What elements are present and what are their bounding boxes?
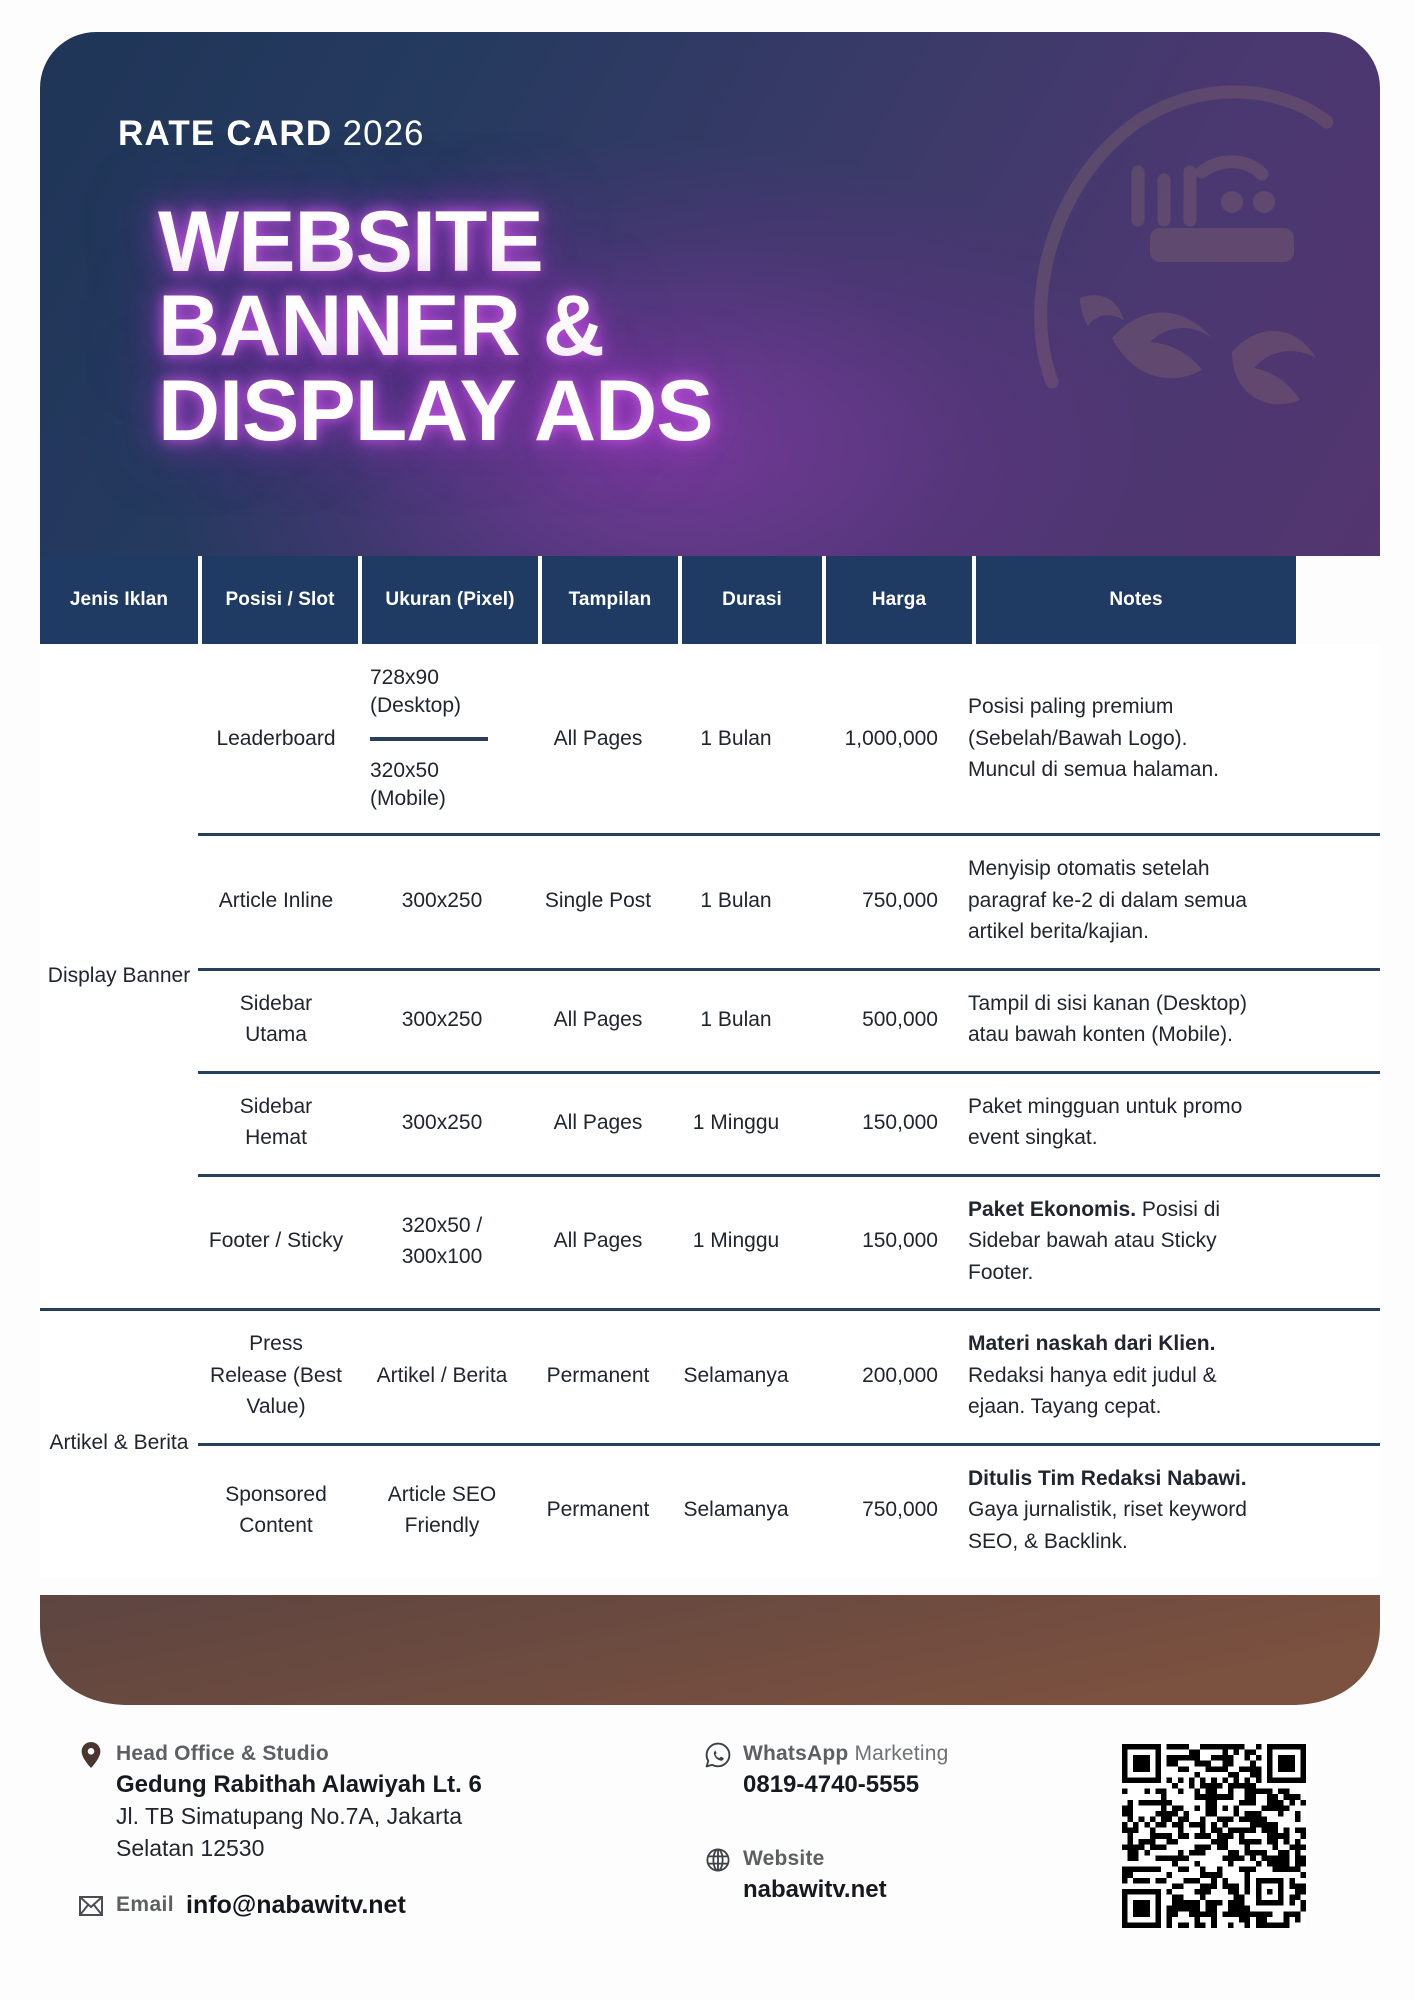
table-row: Sidebar Hemat300x250All Pages1 Minggu150… [198,1071,1380,1174]
cell-posisi-slot: Press Release (Best Value) [198,1328,354,1423]
eyebrow-light: 2026 [343,114,425,153]
notes-highlight: Paket Ekonomis. [968,1198,1136,1221]
rate-table: Jenis Iklan Posisi / Slot Ukuran (Pixel)… [40,556,1380,1577]
email-label: Email [116,1893,174,1917]
cell-tampilan: All Pages [530,1004,666,1036]
table-group: Artikel & BeritaPress Release (Best Valu… [40,1308,1380,1577]
column-header-durasi: Durasi [682,556,822,644]
cell-durasi: 1 Bulan [666,723,806,755]
office-label: Head Office & Studio [116,1740,329,1767]
footer-qr-block [1122,1744,1322,1928]
hero-banner: RATE CARD 2026 WEBSITE BANNER & DISPLAY … [40,32,1380,556]
whatsapp-number[interactable]: 0819-4740-5555 [743,1768,1065,1801]
rate-card-page: RATE CARD 2026 WEBSITE BANNER & DISPLAY … [0,0,1414,2000]
cell-ukuran-pixel: 300x250 [354,885,530,917]
cell-notes: Ditulis Tim Redaksi Nabawi. Gaya jurnali… [952,1463,1272,1558]
cell-tampilan: All Pages [530,723,666,755]
whatsapp-label-strong: WhatsApp [743,1742,848,1765]
cell-notes: Paket mingguan untuk promo event singkat… [952,1091,1272,1154]
column-header-posisi-slot: Posisi / Slot [202,556,358,644]
cell-harga: 200,000 [806,1360,952,1392]
footer-office-block: Head Office & Studio Gedung Rabithah Ala… [78,1740,598,1920]
cell-harga: 1,000,000 [806,723,952,755]
arabic-calligraphy-watermark [902,52,1362,482]
office-name: Gedung Rabithah Alawiyah Lt. 6 [116,1768,598,1801]
cell-tampilan: All Pages [530,1225,666,1257]
cell-harga: 150,000 [806,1107,952,1139]
table-group: Display BannerLeaderboard728x90 (Desktop… [40,644,1380,1308]
notes-text: Redaksi hanya edit judul & ejaan. Tayang… [968,1364,1217,1419]
cell-tampilan: Permanent [530,1360,666,1392]
table-row: Leaderboard728x90 (Desktop)320x50 (Mobil… [198,644,1380,833]
column-header-harga: Harga [826,556,972,644]
eyebrow-strong: RATE CARD [118,114,332,153]
whatsapp-label-row: WhatsApp Marketing [705,1740,1065,1768]
website-label: Website [743,1845,825,1872]
cell-posisi-slot: Footer / Sticky [198,1225,354,1257]
notes-highlight: Ditulis Tim Redaksi Nabawi. [968,1467,1247,1490]
email-row[interactable]: Email info@nabawitv.net [78,1891,598,1920]
website-label-row: Website [705,1845,1065,1873]
cell-posisi-slot: Sidebar Hemat [198,1091,354,1154]
cell-harga: 750,000 [806,885,952,917]
table-row: Press Release (Best Value)Artikel / Beri… [198,1308,1380,1443]
cell-notes: Menyisip otomatis setelah paragraf ke-2 … [952,853,1272,948]
size-divider [370,737,488,741]
notes-text: Posisi paling premium (Sebelah/Bawah Log… [968,695,1219,781]
table-row: Footer / Sticky320x50 / 300x100All Pages… [198,1174,1380,1309]
column-header-tampilan: Tampilan [542,556,678,644]
cell-notes: Tampil di sisi kanan (Desktop) atau bawa… [952,988,1272,1051]
cell-ukuran-pixel: Artikel / Berita [354,1360,530,1392]
group-label: Artikel & Berita [40,1308,198,1577]
group-rows: Press Release (Best Value)Artikel / Beri… [198,1308,1380,1577]
cell-posisi-slot: Sponsored Content [198,1479,354,1542]
group-rows: Leaderboard728x90 (Desktop)320x50 (Mobil… [198,644,1380,1308]
globe-icon [705,1847,731,1873]
cell-durasi: Selamanya [666,1494,806,1526]
cell-durasi: 1 Minggu [666,1225,806,1257]
office-address-line-1: Jl. TB Simatupang No.7A, Jakarta [116,1801,598,1833]
notes-text: Menyisip otomatis setelah paragraf ke-2 … [968,857,1247,943]
cell-durasi: 1 Bulan [666,1004,806,1036]
title-line-3: DISPLAY ADS [158,369,713,453]
cell-durasi: Selamanya [666,1360,806,1392]
location-pin-icon [78,1742,104,1768]
cell-tampilan: Permanent [530,1494,666,1526]
cell-tampilan: All Pages [530,1107,666,1139]
table-row: Sidebar Utama300x250All Pages1 Bulan500,… [198,968,1380,1071]
size-desktop: 728x90 (Desktop) [370,664,520,721]
cell-tampilan: Single Post [530,885,666,917]
footer-contact-block: WhatsApp Marketing 0819-4740-5555 Websit… [705,1740,1065,1906]
cell-notes: Posisi paling premium (Sebelah/Bawah Log… [952,691,1272,786]
cell-posisi-slot: Sidebar Utama [198,988,354,1051]
email-value[interactable]: info@nabawitv.net [186,1891,406,1920]
cell-ukuran-pixel: 300x250 [354,1107,530,1139]
notes-highlight: Materi naskah dari Klien. [968,1332,1215,1355]
notes-text: Gaya jurnalistik, riset keyword SEO, & B… [968,1498,1247,1553]
cell-harga: 150,000 [806,1225,952,1257]
cell-ukuran-pixel: 728x90 (Desktop)320x50 (Mobile) [354,664,530,813]
office-label-row: Head Office & Studio [78,1740,598,1768]
column-header-jenis-iklan: Jenis Iklan [40,556,198,644]
notes-text: Paket mingguan untuk promo event singkat… [968,1095,1242,1150]
cell-posisi-slot: Article Inline [198,885,354,917]
website-value[interactable]: nabawitv.net [743,1873,1065,1906]
cell-notes: Materi naskah dari Klien. Redaksi hanya … [952,1328,1272,1423]
office-address-line-2: Selatan 12530 [116,1833,598,1865]
column-header-notes: Notes [976,556,1296,644]
cell-durasi: 1 Bulan [666,885,806,917]
cell-notes: Paket Ekonomis. Posisi di Sidebar bawah … [952,1194,1272,1289]
cell-harga: 500,000 [806,1004,952,1036]
table-body: Display BannerLeaderboard728x90 (Desktop… [40,644,1380,1577]
whatsapp-icon [705,1742,731,1768]
notes-text: Tampil di sisi kanan (Desktop) atau bawa… [968,992,1247,1047]
column-header-ukuran-pixel: Ukuran (Pixel) [362,556,538,644]
cell-posisi-slot: Leaderboard [198,723,354,755]
cell-harga: 750,000 [806,1494,952,1526]
footer: Head Office & Studio Gedung Rabithah Ala… [0,1740,1414,2000]
cell-durasi: 1 Minggu [666,1107,806,1139]
envelope-icon [78,1893,104,1919]
bottom-decorative-bar [40,1595,1380,1707]
size-mobile: 320x50 (Mobile) [370,757,520,814]
whatsapp-label-muted: Marketing [848,1742,948,1765]
title-line-2: BANNER & [158,284,713,368]
cell-ukuran-pixel: 320x50 / 300x100 [354,1210,530,1273]
eyebrow: RATE CARD 2026 [118,114,425,154]
table-header-row: Jenis Iklan Posisi / Slot Ukuran (Pixel)… [40,556,1380,644]
cell-ukuran-pixel: Article SEO Friendly [354,1479,530,1542]
cell-ukuran-pixel: 300x250 [354,1004,530,1036]
page-title: WEBSITE BANNER & DISPLAY ADS [158,200,713,453]
whatsapp-label: WhatsApp Marketing [743,1740,948,1767]
group-label: Display Banner [40,644,198,1308]
qr-code[interactable] [1122,1744,1306,1928]
title-line-1: WEBSITE [158,200,713,284]
table-row: Article Inline300x250Single Post1 Bulan7… [198,833,1380,968]
table-row: Sponsored ContentArticle SEO FriendlyPer… [198,1443,1380,1578]
